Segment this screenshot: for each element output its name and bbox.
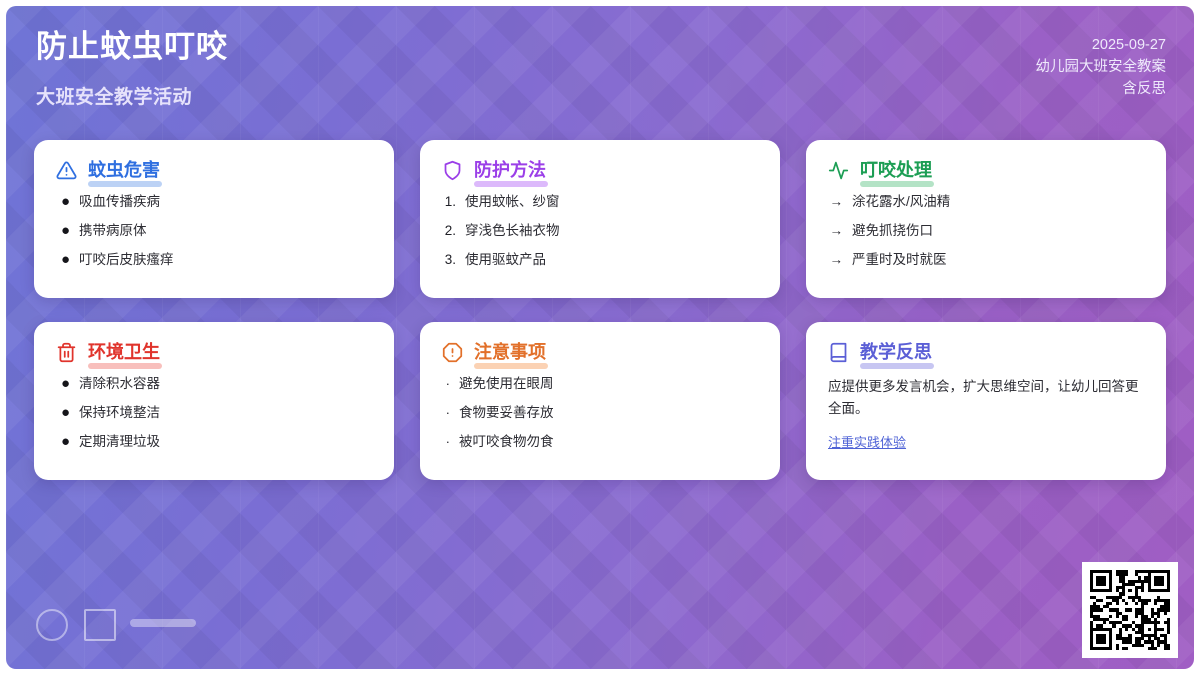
card-grid: 蚊虫危害●吸血传播疾病●携带病原体●叮咬后皮肤瘙痒防护方法1.使用蚊帐、纱窗2.…	[34, 140, 1166, 480]
list-item-label: 吸血传播疾病	[79, 194, 160, 211]
list-item-label: 避免使用在眼周	[459, 376, 554, 393]
card-title: 叮咬处理	[860, 160, 932, 181]
card: 环境卫生●清除积水容器●保持环境整洁●定期清理垃圾	[34, 322, 394, 480]
list-item-label: 叮咬后皮肤瘙痒	[79, 252, 174, 269]
list-marker: ●	[56, 194, 70, 209]
title-underline	[88, 181, 162, 187]
qr-code[interactable]	[1082, 562, 1178, 658]
list-marker: →	[828, 223, 843, 240]
list-item-label: 严重时及时就医	[852, 252, 947, 269]
decor-circle-outline	[36, 609, 68, 641]
list-item: 1.使用蚊帐、纱窗	[442, 194, 758, 211]
card-item-list: ●吸血传播疾病●携带病原体●叮咬后皮肤瘙痒	[56, 194, 372, 269]
list-item: ·避免使用在眼周	[442, 376, 758, 393]
card-header: 注意事项	[442, 342, 758, 363]
card-item-list: ●清除积水容器●保持环境整洁●定期清理垃圾	[56, 376, 372, 451]
title-underline	[88, 363, 162, 369]
list-item: 2.穿浅色长袖衣物	[442, 223, 758, 240]
card-title-text: 蚊虫危害	[88, 160, 160, 180]
list-item: ●保持环境整洁	[56, 405, 372, 422]
card: 防护方法1.使用蚊帐、纱窗2.穿浅色长袖衣物3.使用驱蚊产品	[420, 140, 780, 298]
list-item-label: 使用驱蚊产品	[465, 252, 546, 269]
card-title: 注意事项	[474, 342, 546, 363]
list-item: ●叮咬后皮肤瘙痒	[56, 252, 372, 269]
list-item: ●定期清理垃圾	[56, 434, 372, 451]
list-marker: ●	[56, 252, 70, 267]
decor-bar	[130, 619, 196, 627]
list-marker: 3.	[442, 252, 456, 269]
card: 注意事项·避免使用在眼周·食物要妥善存放·被叮咬食物勿食	[420, 322, 780, 480]
list-marker: ·	[442, 405, 450, 421]
list-item: →涂花露水/风油精	[828, 194, 1144, 211]
list-item: 3.使用驱蚊产品	[442, 252, 758, 269]
list-marker: ●	[56, 223, 70, 238]
alert-octagon-icon	[442, 342, 463, 363]
list-item-label: 避免抓挠伤口	[852, 223, 933, 240]
list-marker: ·	[442, 434, 450, 450]
list-item: ·食物要妥善存放	[442, 405, 758, 422]
book-icon	[828, 342, 849, 363]
list-item-label: 被叮咬食物勿食	[459, 434, 554, 451]
page-title: 防止蚊虫叮咬	[36, 29, 228, 65]
list-marker: ·	[442, 376, 450, 392]
list-item-label: 使用蚊帐、纱窗	[465, 194, 560, 211]
reflection-text: 应提供更多发言机会，扩大思维空间，让幼儿回答更全面。	[828, 376, 1144, 420]
title-underline	[474, 363, 548, 369]
header-meta-line-2: 含反思	[1036, 78, 1167, 100]
card: 教学反思应提供更多发言机会，扩大思维空间，让幼儿回答更全面。注重实践体验	[806, 322, 1166, 480]
list-marker: 2.	[442, 223, 456, 240]
decor-square-outline	[84, 609, 116, 641]
alert-triangle-icon	[56, 160, 77, 181]
list-marker: ●	[56, 376, 70, 391]
card-title: 教学反思	[860, 342, 932, 363]
card-item-list: 1.使用蚊帐、纱窗2.穿浅色长袖衣物3.使用驱蚊产品	[442, 194, 758, 269]
list-marker: ●	[56, 405, 70, 420]
list-marker: →	[828, 194, 843, 211]
list-marker: ●	[56, 434, 70, 449]
title-underline	[860, 181, 934, 187]
list-item-label: 清除积水容器	[79, 376, 160, 393]
slide-header: 防止蚊虫叮咬 大班安全教学活动 2025-09-27 幼儿园大班安全教案 含反思	[0, 0, 1200, 128]
list-item: ●清除积水容器	[56, 376, 372, 393]
list-item: →严重时及时就医	[828, 252, 1144, 269]
card-title: 环境卫生	[88, 342, 160, 363]
title-underline	[474, 181, 548, 187]
activity-pulse-icon	[828, 160, 849, 181]
card-title: 防护方法	[474, 160, 546, 181]
trash-icon	[56, 342, 77, 363]
list-marker: 1.	[442, 194, 456, 211]
list-item-label: 涂花露水/风油精	[852, 194, 950, 211]
card-title-text: 叮咬处理	[860, 160, 932, 180]
list-item: →避免抓挠伤口	[828, 223, 1144, 240]
page-subtitle: 大班安全教学活动	[36, 82, 192, 109]
title-underline	[860, 363, 934, 369]
slide-root: 防止蚊虫叮咬 大班安全教学活动 2025-09-27 幼儿园大班安全教案 含反思…	[0, 0, 1200, 675]
header-date: 2025-09-27	[1036, 34, 1167, 56]
shield-icon	[442, 160, 463, 181]
card-header: 叮咬处理	[828, 160, 1144, 181]
list-item-label: 穿浅色长袖衣物	[465, 223, 560, 240]
card-title-text: 防护方法	[474, 160, 546, 180]
list-item: ●吸血传播疾病	[56, 194, 372, 211]
header-meta: 2025-09-27 幼儿园大班安全教案 含反思	[1036, 34, 1167, 101]
qr-code-matrix	[1090, 570, 1170, 650]
card-title-text: 注意事项	[474, 342, 546, 362]
list-item-label: 定期清理垃圾	[79, 434, 160, 451]
reflection-link[interactable]: 注重实践体验	[828, 435, 906, 450]
card-item-list: →涂花露水/风油精→避免抓挠伤口→严重时及时就医	[828, 194, 1144, 269]
list-item: ●携带病原体	[56, 223, 372, 240]
card-header: 防护方法	[442, 160, 758, 181]
card-title-text: 教学反思	[860, 342, 932, 362]
list-marker: →	[828, 252, 843, 269]
card-item-list: ·避免使用在眼周·食物要妥善存放·被叮咬食物勿食	[442, 376, 758, 451]
card: 叮咬处理→涂花露水/风油精→避免抓挠伤口→严重时及时就医	[806, 140, 1166, 298]
card-header: 教学反思	[828, 342, 1144, 363]
list-item: ·被叮咬食物勿食	[442, 434, 758, 451]
card-header: 蚊虫危害	[56, 160, 372, 181]
list-item-label: 食物要妥善存放	[459, 405, 554, 422]
card-title-text: 环境卫生	[88, 342, 160, 362]
list-item-label: 携带病原体	[79, 223, 147, 240]
list-item-label: 保持环境整洁	[79, 405, 160, 422]
header-meta-line-1: 幼儿园大班安全教案	[1036, 56, 1167, 78]
card: 蚊虫危害●吸血传播疾病●携带病原体●叮咬后皮肤瘙痒	[34, 140, 394, 298]
card-title: 蚊虫危害	[88, 160, 160, 181]
card-header: 环境卫生	[56, 342, 372, 363]
